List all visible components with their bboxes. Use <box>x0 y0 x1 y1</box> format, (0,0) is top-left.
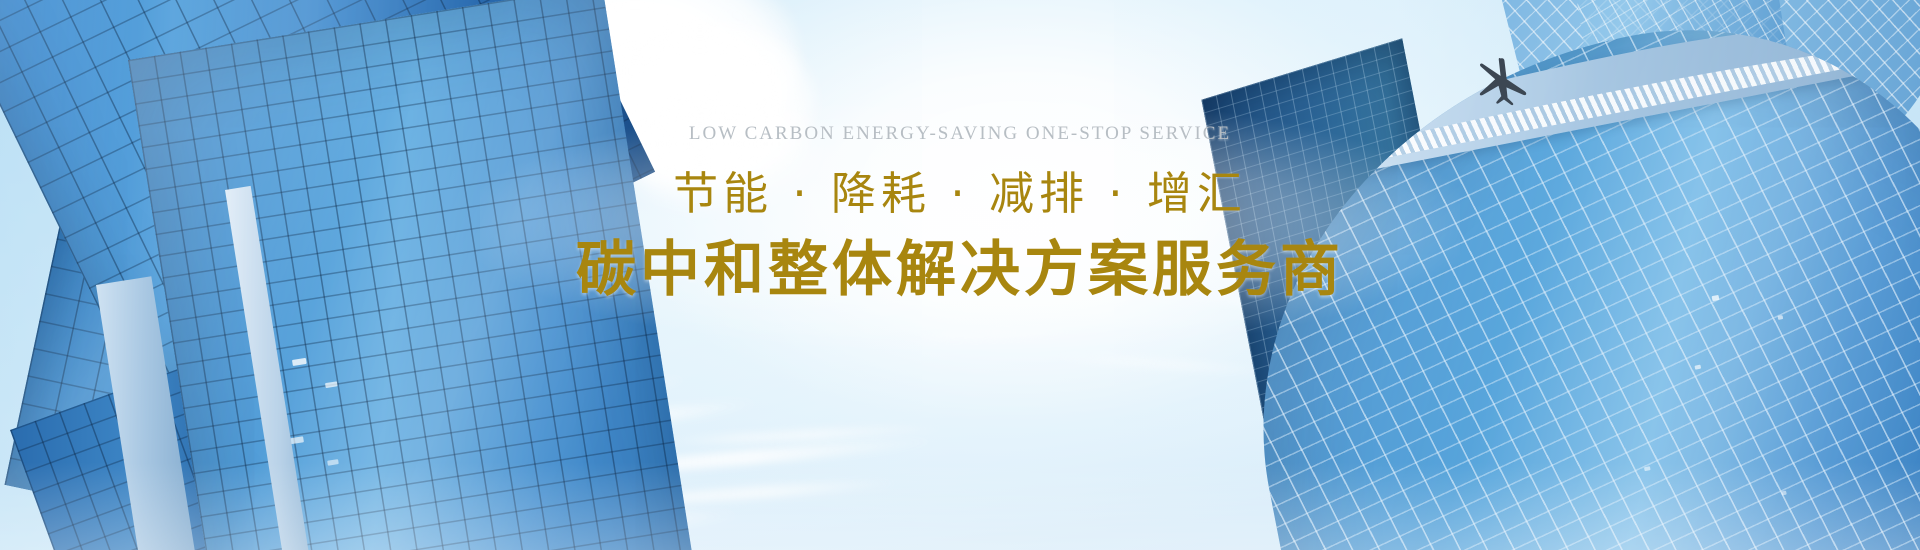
banner-headline: 碳中和整体解决方案服务商 <box>0 236 1920 305</box>
banner-eyebrow: LOW CARBON ENERGY-SAVING ONE-STOP SERVIC… <box>0 124 1920 145</box>
banner-subheadline: 节能 · 降耗 · 减排 · 增汇 <box>0 167 1920 220</box>
hero-banner: LOW CARBON ENERGY-SAVING ONE-STOP SERVIC… <box>0 0 1920 550</box>
